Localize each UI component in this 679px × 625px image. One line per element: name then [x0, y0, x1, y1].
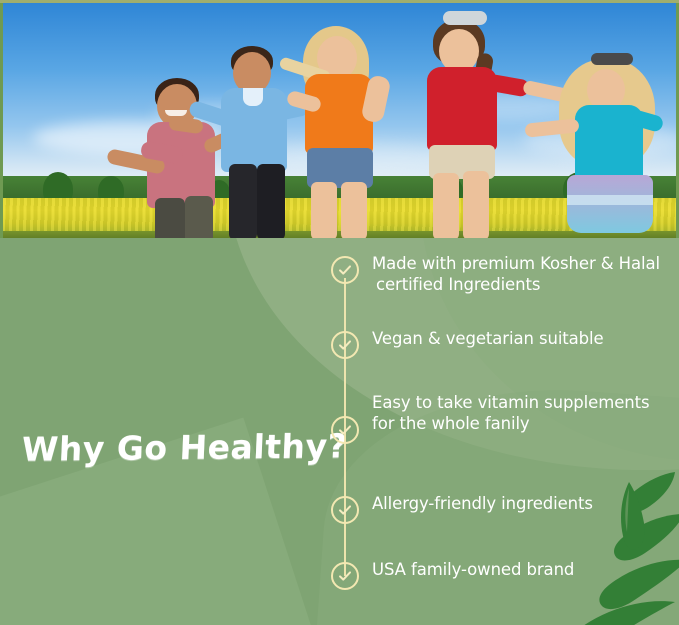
child-figure-teal-top	[551, 55, 676, 240]
benefit-text: Easy to take vitamin supplements for the…	[372, 392, 672, 434]
check-circle-icon	[331, 562, 359, 590]
page-title: Why Go Healthy?	[21, 427, 348, 469]
benefits-timeline: Made with premium Kosher & Halal certifi…	[331, 238, 679, 625]
check-circle-icon	[331, 256, 359, 284]
check-circle-icon	[331, 496, 359, 524]
benefit-text: Vegan & vegetarian suitable	[372, 328, 672, 349]
product-feature-banner: Why Go Healthy? Made with premium Kosher…	[0, 0, 679, 625]
benefit-text: Allergy-friendly ingredients	[372, 493, 672, 514]
benefit-line-1: USA family-owned brand	[372, 560, 574, 579]
benefit-line-1: Made with premium Kosher & Halal	[372, 254, 660, 273]
hero-photo	[0, 0, 679, 240]
check-circle-icon	[331, 331, 359, 359]
check-circle-icon	[331, 416, 359, 444]
benefit-line-1: Easy to take vitamin supplements	[372, 393, 649, 412]
benefit-line-2: for the whole fanily	[372, 413, 672, 434]
hero-photo-scene	[3, 3, 676, 240]
benefit-text: Made with premium Kosher & Halal certifi…	[372, 253, 672, 295]
benefit-line-1: Vegan & vegetarian suitable	[372, 329, 604, 348]
benefit-line-2: certified Ingredients	[372, 274, 672, 295]
benefits-panel: Why Go Healthy? Made with premium Kosher…	[0, 238, 679, 625]
benefit-text: USA family-owned brand	[372, 559, 672, 580]
benefit-line-1: Allergy-friendly ingredients	[372, 494, 593, 513]
